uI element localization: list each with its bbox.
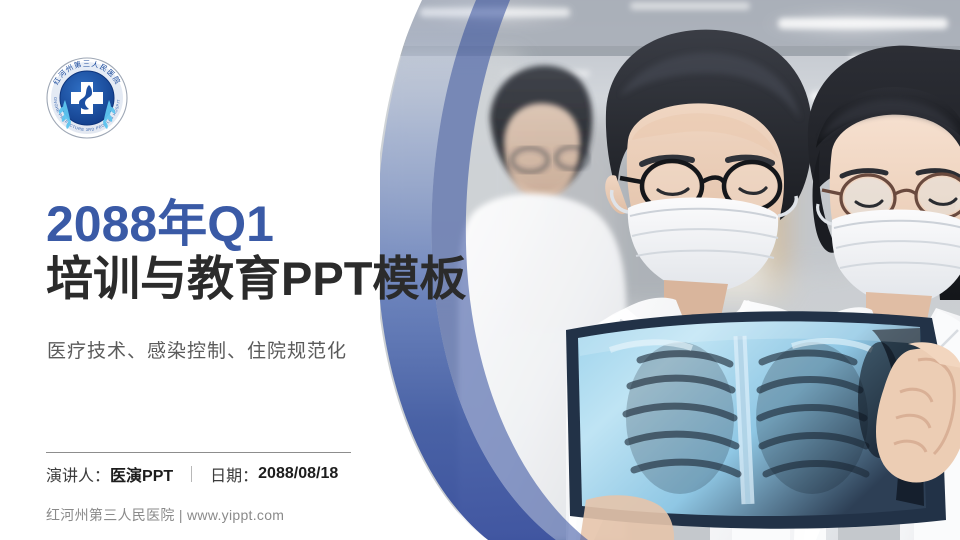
- footer-text: 红河州第三人民医院 | www.yippt.com: [46, 505, 284, 525]
- divider-line: [46, 452, 351, 453]
- speaker-name: 医演PPT: [110, 462, 173, 486]
- row-separator: [191, 466, 192, 482]
- title-block: 2088年Q1 培训与教育PPT模板: [46, 198, 566, 305]
- title-line-year: 2088年Q1: [46, 198, 566, 251]
- subtitle: 医疗技术、感染控制、住院规范化: [47, 336, 347, 363]
- date-value: 2088/08/18: [258, 465, 338, 483]
- hospital-logo: 红河州第三人民医院 HONGHE PREFECTURE 3RD PEOPLES …: [45, 56, 129, 140]
- title-line-main: 培训与教育PPT模板: [46, 253, 566, 306]
- left-content-panel: 红河州第三人民医院 HONGHE PREFECTURE 3RD PEOPLES …: [0, 0, 420, 540]
- title-slide: 红河州第三人民医院 HONGHE PREFECTURE 3RD PEOPLES …: [0, 0, 960, 540]
- presenter-row: 演讲人： 医演PPT 日期： 2088/08/18: [46, 462, 338, 486]
- speaker-label: 演讲人：: [46, 462, 110, 486]
- date-label: 日期：: [210, 462, 258, 486]
